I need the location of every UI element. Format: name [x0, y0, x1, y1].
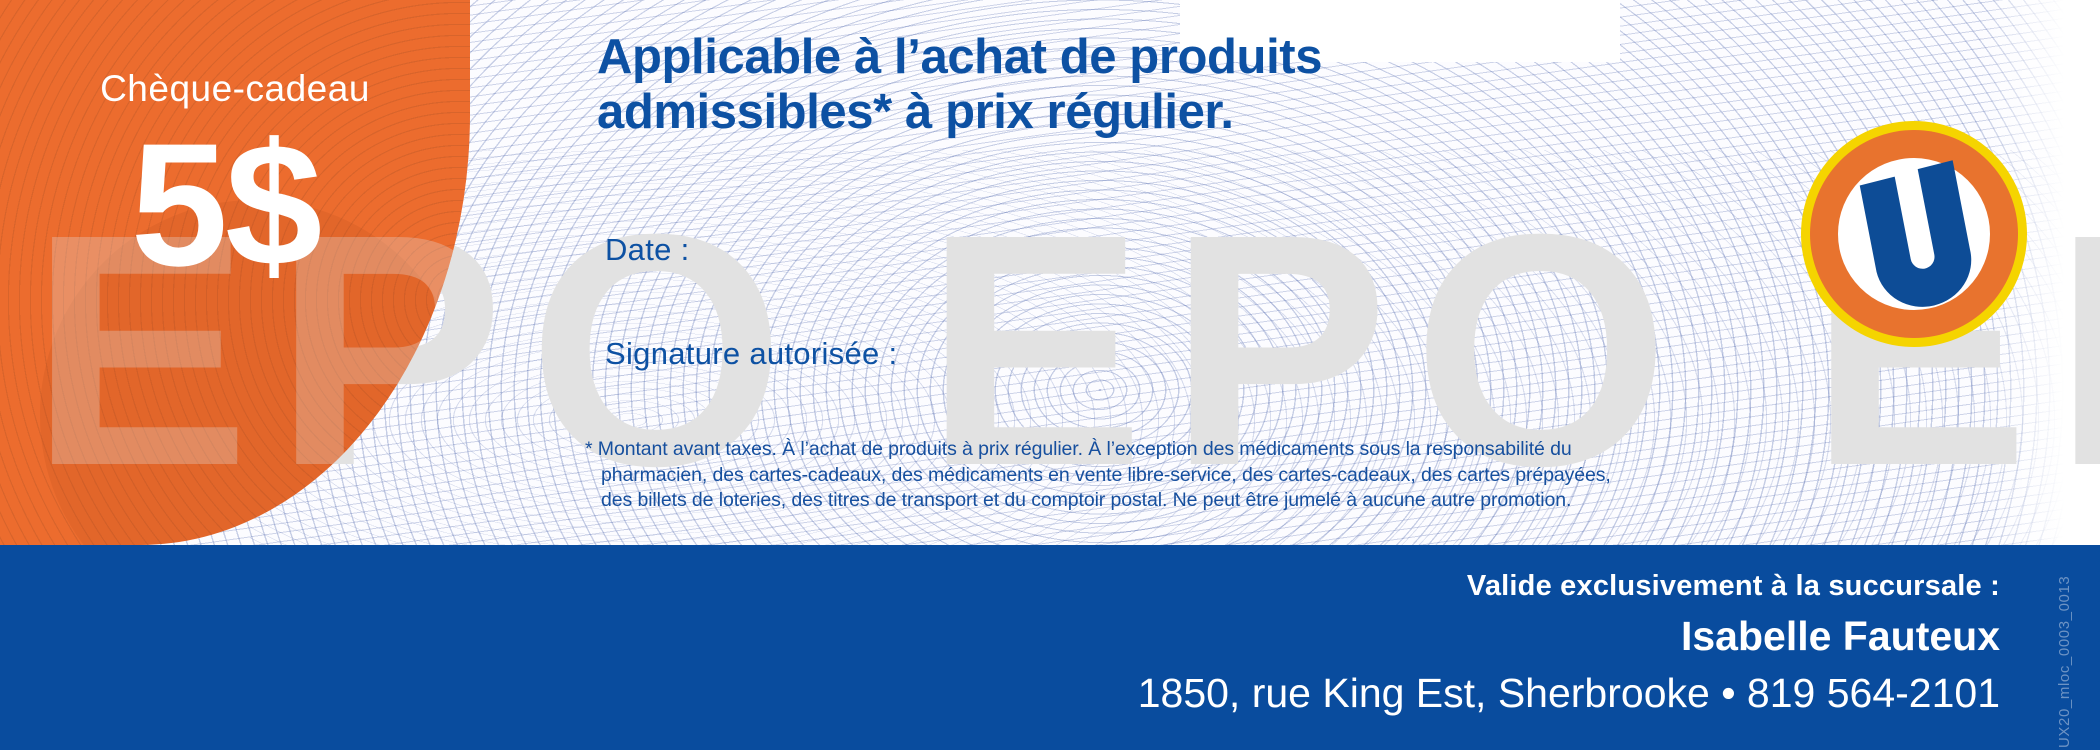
- gift-certificate-label: Chèque-cadeau: [0, 68, 470, 110]
- gift-certificate: EPO EPO EPO EPO EPO EPO Chèque-cadeau 5$…: [0, 0, 2100, 750]
- fineprint-line-3: des billets de loteries, des titres de t…: [585, 488, 1725, 514]
- fineprint-disclaimer: * Montant avant taxes. À l’achat de prod…: [585, 437, 1725, 514]
- headline: Applicable à l’achat de produits admissi…: [597, 30, 1777, 140]
- headline-line-2: admissibles* à prix régulier.: [597, 85, 1777, 140]
- uniprix-logo: [1798, 118, 2030, 350]
- document-code: UX20_mloc_0003_0013: [2056, 552, 2086, 748]
- date-field-label[interactable]: Date :: [605, 232, 690, 268]
- footer-address: 1850, rue King Est, Sherbrooke • 819 564…: [1138, 670, 2000, 717]
- fineprint-line-1: * Montant avant taxes. À l’achat de prod…: [585, 437, 1725, 463]
- footer-branch-name: Isabelle Fauteux: [1681, 613, 2000, 660]
- footer-valid-label: Valide exclusivement à la succursale :: [1467, 570, 2000, 603]
- footer-bar: Valide exclusivement à la succursale : I…: [0, 545, 2100, 750]
- fineprint-line-2: pharmacien, des cartes-cadeaux, des médi…: [585, 463, 1725, 489]
- signature-field-label[interactable]: Signature autorisée :: [605, 336, 897, 372]
- headline-line-1: Applicable à l’achat de produits: [597, 30, 1777, 85]
- amount-value: 5$: [0, 118, 450, 293]
